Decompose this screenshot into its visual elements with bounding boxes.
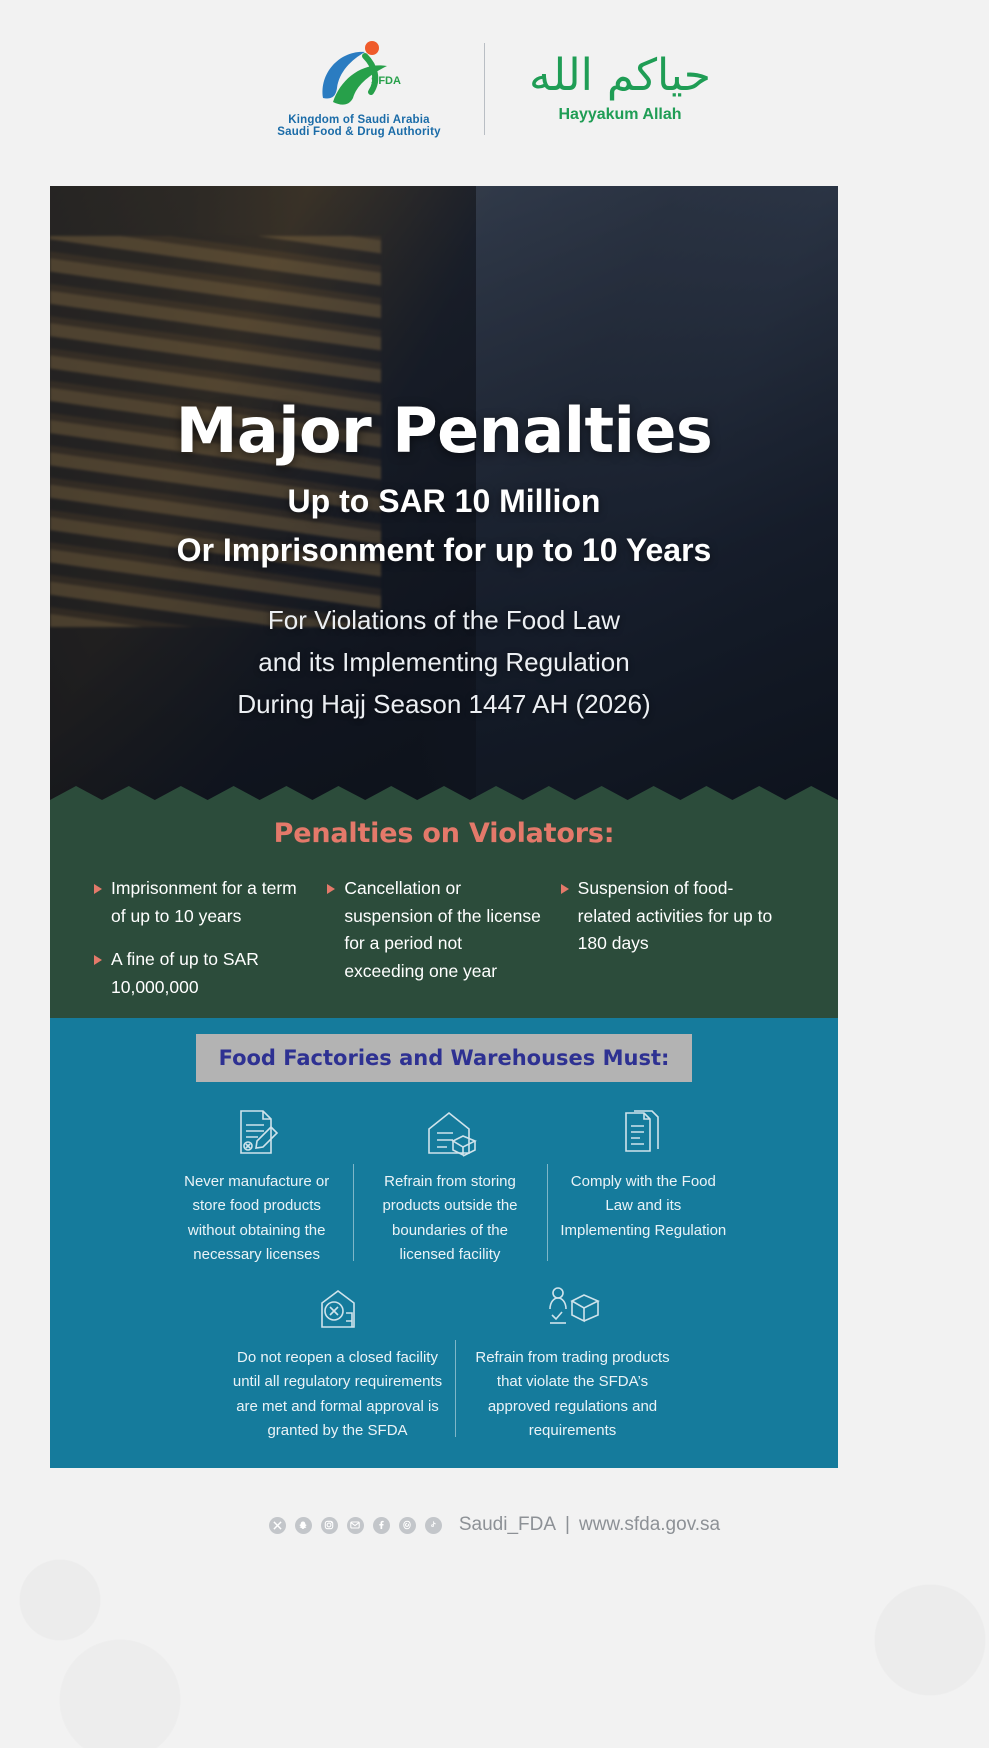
hero-subtitle-amount: Up to SAR 10 Million — [288, 483, 601, 520]
hero-description-line-3: During Hajj Season 1447 AH (2026) — [237, 683, 650, 725]
hero-banner: Major Penalties Up to SAR 10 Million Or … — [50, 186, 838, 816]
triangle-bullet-icon — [327, 884, 335, 894]
requirements-banner-label: Food Factories and Warehouses Must: — [219, 1046, 670, 1070]
facebook-icon[interactable] — [373, 1517, 390, 1534]
triangle-bullet-icon — [94, 955, 102, 965]
requirement-item-label: Refrain from storing products outside th… — [365, 1170, 534, 1267]
product-check-icon — [546, 1282, 600, 1334]
requirement-item: Comply with the Food Law and its Impleme… — [547, 1106, 740, 1267]
requirements-row-2: Do not reopen a closed facility until al… — [220, 1282, 690, 1443]
penalty-item-label: Imprisonment for a term of up to 10 year… — [111, 875, 311, 930]
requirements-banner: Food Factories and Warehouses Must: — [196, 1034, 692, 1082]
penalty-item: Suspension of food-related activities fo… — [561, 875, 778, 958]
requirements-section: Food Factories and Warehouses Must: Neve… — [50, 1018, 838, 1468]
penalties-column-3: Suspension of food-related activities fo… — [561, 875, 794, 1018]
requirement-item: Do not reopen a closed facility until al… — [220, 1282, 455, 1443]
svg-text:SFDA: SFDA — [371, 75, 401, 87]
footer: Saudi_FDA | www.sfda.gov.sa — [0, 1490, 989, 1560]
logo-kingdom-line: Kingdom of Saudi Arabia — [288, 114, 430, 126]
footer-url[interactable]: www.sfda.gov.sa — [579, 1514, 720, 1536]
hero-description: For Violations of the Food Law and its I… — [237, 599, 650, 725]
triangle-bullet-icon — [561, 884, 569, 894]
requirement-item-label: Refrain from trading products that viola… — [467, 1346, 678, 1443]
hayyakum-english-text: Hayyakum Allah — [558, 106, 681, 124]
requirements-row-1: Never manufacture or store food products… — [160, 1106, 740, 1267]
requirement-item-label: Do not reopen a closed facility until al… — [232, 1346, 443, 1443]
document-pencil-icon — [233, 1106, 281, 1158]
snapchat-icon[interactable] — [295, 1517, 312, 1534]
hero-description-line-2: and its Implementing Regulation — [237, 641, 650, 683]
tiktok-icon[interactable] — [425, 1517, 442, 1534]
penalties-column-2: Cancellation or suspension of the licens… — [327, 875, 560, 1018]
regulation-document-icon — [620, 1106, 666, 1158]
instagram-icon[interactable] — [321, 1517, 338, 1534]
infographic-page: SFDA Kingdom of Saudi Arabia Saudi Food … — [0, 0, 989, 1748]
penalties-section: Penalties on Violators: Imprisonment for… — [50, 786, 838, 1018]
header: SFDA Kingdom of Saudi Arabia Saudi Food … — [0, 0, 989, 178]
penalty-item: Cancellation or suspension of the licens… — [327, 875, 544, 986]
footer-separator: | — [565, 1514, 570, 1536]
hayyakum-arabic-text: حياكم الله — [529, 54, 711, 98]
penalty-item: Imprisonment for a term of up to 10 year… — [94, 875, 311, 930]
closed-facility-icon — [312, 1282, 364, 1334]
hero-title: Major Penalties — [176, 398, 713, 463]
penalties-heading: Penalties on Violators: — [50, 786, 838, 849]
requirement-item-label: Comply with the Food Law and its Impleme… — [559, 1170, 728, 1243]
requirement-item: Refrain from storing products outside th… — [353, 1106, 546, 1267]
penalty-item-label: Cancellation or suspension of the licens… — [344, 875, 544, 986]
sfda-logo: SFDA Kingdom of Saudi Arabia Saudi Food … — [264, 40, 454, 138]
hero-subtitle-imprisonment: Or Imprisonment for up to 10 Years — [177, 532, 712, 569]
requirement-item: Refrain from trading products that viola… — [455, 1282, 690, 1443]
hero-text-block: Major Penalties Up to SAR 10 Million Or … — [50, 186, 838, 816]
x-icon[interactable] — [269, 1517, 286, 1534]
penalty-item-label: A fine of up to SAR 10,000,000 — [111, 946, 311, 1001]
penalty-item-label: Suspension of food-related activities fo… — [578, 875, 778, 958]
hayyakum-allah-logo: حياكم الله Hayyakum Allah — [515, 54, 725, 124]
logo-authority-line: Saudi Food & Drug Authority — [277, 126, 440, 138]
sfda-logo-mark-icon: SFDA — [311, 40, 407, 108]
requirement-item-label: Never manufacture or store food products… — [172, 1170, 341, 1267]
logo-divider — [484, 43, 485, 135]
warehouse-box-icon — [423, 1106, 477, 1158]
triangle-bullet-icon — [94, 884, 102, 894]
email-icon[interactable] — [347, 1517, 364, 1534]
hero-description-line-1: For Violations of the Food Law — [237, 599, 650, 641]
penalty-item: A fine of up to SAR 10,000,000 — [94, 946, 311, 1001]
footer-handle: Saudi_FDA — [459, 1514, 556, 1536]
threads-icon[interactable] — [399, 1517, 416, 1534]
penalties-column-1: Imprisonment for a term of up to 10 year… — [94, 875, 327, 1018]
requirement-item: Never manufacture or store food products… — [160, 1106, 353, 1267]
penalties-columns: Imprisonment for a term of up to 10 year… — [50, 849, 838, 1018]
